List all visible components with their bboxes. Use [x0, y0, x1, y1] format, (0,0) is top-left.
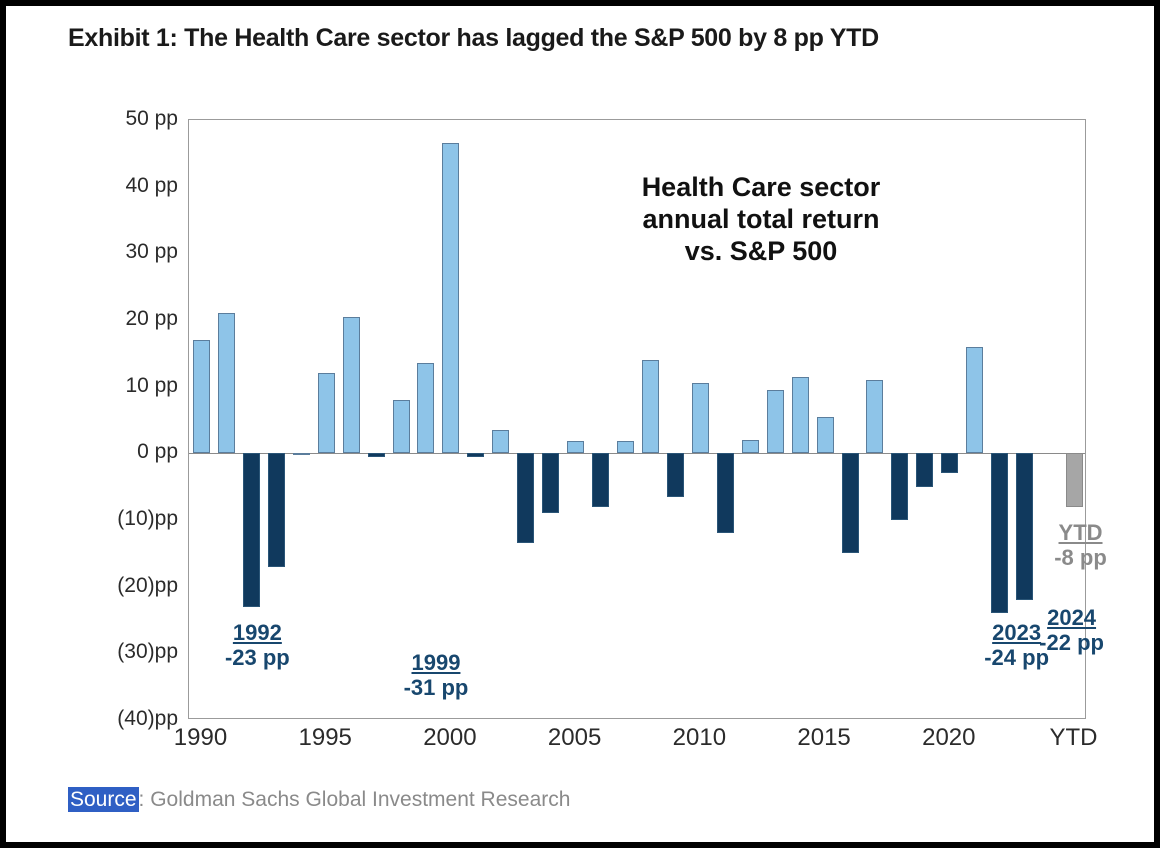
page-title: Exhibit 1: The Health Care sector has la…: [68, 24, 879, 53]
bar-1990: [193, 340, 210, 453]
bar-1999: [417, 363, 434, 453]
callout-1992-year: 1992: [225, 620, 290, 645]
callout-2024-year: 2024: [1039, 605, 1104, 630]
x-tick-label: 2015: [797, 724, 850, 752]
bar-2019: [916, 453, 933, 486]
chart-caption-line-2: vs. S&P 500: [581, 236, 941, 268]
callout-1992-value: -23 pp: [225, 645, 290, 670]
chart-caption-line-0: Health Care sector: [581, 172, 941, 204]
y-tick-label: 50 pp: [78, 107, 178, 131]
y-tick-label: (40)pp: [78, 707, 178, 731]
y-tick-label: 20 pp: [78, 307, 178, 331]
callout-2024-value: -22 pp: [1039, 630, 1104, 655]
y-tick-label: 40 pp: [78, 174, 178, 198]
bar-2003: [517, 453, 534, 543]
bar-2006: [592, 453, 609, 506]
source-text: : Goldman Sachs Global Investment Resear…: [139, 788, 571, 811]
bar-2000: [442, 143, 459, 453]
bar-1996: [343, 317, 360, 454]
bar-2005: [567, 441, 584, 453]
bar-2023: [1016, 453, 1033, 600]
source-label: Source: [68, 787, 139, 812]
x-tick-label: 1995: [298, 724, 351, 752]
bar-2007: [617, 441, 634, 453]
x-tick-label: 1990: [174, 724, 227, 752]
bar-2010: [692, 383, 709, 453]
bar-2013: [767, 390, 784, 453]
y-tick-label: (10)pp: [78, 507, 178, 531]
bar-2021: [966, 347, 983, 454]
x-tick-label: 2005: [548, 724, 601, 752]
x-tick-label: 2010: [673, 724, 726, 752]
bar-2002: [492, 430, 509, 453]
callout-2024: 2024 -22 pp: [1039, 605, 1104, 656]
bar-1997: [368, 453, 385, 456]
y-tick-label: 30 pp: [78, 240, 178, 264]
callout-ytd-value: -8 pp: [1054, 545, 1107, 570]
callout-ytd: YTD -8 pp: [1054, 520, 1107, 571]
y-tick-label: 0 pp: [78, 440, 178, 464]
bar-1998: [393, 400, 410, 453]
bar-2018: [891, 453, 908, 520]
y-tick-label: 10 pp: [78, 374, 178, 398]
bar-2008: [642, 360, 659, 453]
callout-1999-year: 1999: [404, 650, 469, 675]
bar-2011: [717, 453, 734, 533]
chart-caption-line-1: annual total return: [581, 204, 941, 236]
bar-1991: [218, 313, 235, 453]
x-tick-label: YTD: [1050, 724, 1098, 752]
x-axis: 1990199520002005201020152020YTD: [188, 724, 1086, 764]
bar-1995: [318, 373, 335, 453]
y-tick-label: (20)pp: [78, 574, 178, 598]
bar-2015: [817, 417, 834, 454]
x-tick-label: 2000: [423, 724, 476, 752]
chart-caption: Health Care sectorannual total returnvs.…: [581, 172, 941, 268]
bar-2001: [467, 453, 484, 456]
callout-1992: 1992 -23 pp: [225, 620, 290, 671]
bar-1992: [243, 453, 260, 606]
bar-2009: [667, 453, 684, 496]
callout-ytd-label: YTD: [1054, 520, 1107, 545]
y-axis: 50 pp40 pp30 pp20 pp10 pp0 pp(10)pp(20)p…: [74, 119, 178, 719]
bar-2012: [742, 440, 759, 453]
bar-1993: [268, 453, 285, 566]
bar-2017: [866, 380, 883, 453]
source-note: Source: Goldman Sachs Global Investment …: [68, 788, 570, 812]
callout-1999: 1999 -31 pp: [404, 650, 469, 701]
x-tick-label: 2020: [922, 724, 975, 752]
bar-2016: [842, 453, 859, 553]
callout-1999-value: -31 pp: [404, 675, 469, 700]
bar-2004: [542, 453, 559, 513]
bar-2020: [941, 453, 958, 473]
bar-2014: [792, 377, 809, 454]
bar-1994: [293, 453, 310, 455]
y-tick-label: (30)pp: [78, 640, 178, 664]
exhibit-page: Exhibit 1: The Health Care sector has la…: [0, 0, 1160, 848]
bar-YTD: [1066, 453, 1083, 506]
bar-2022: [991, 453, 1008, 613]
chart-plot-area: Health Care sectorannual total returnvs.…: [188, 119, 1086, 719]
